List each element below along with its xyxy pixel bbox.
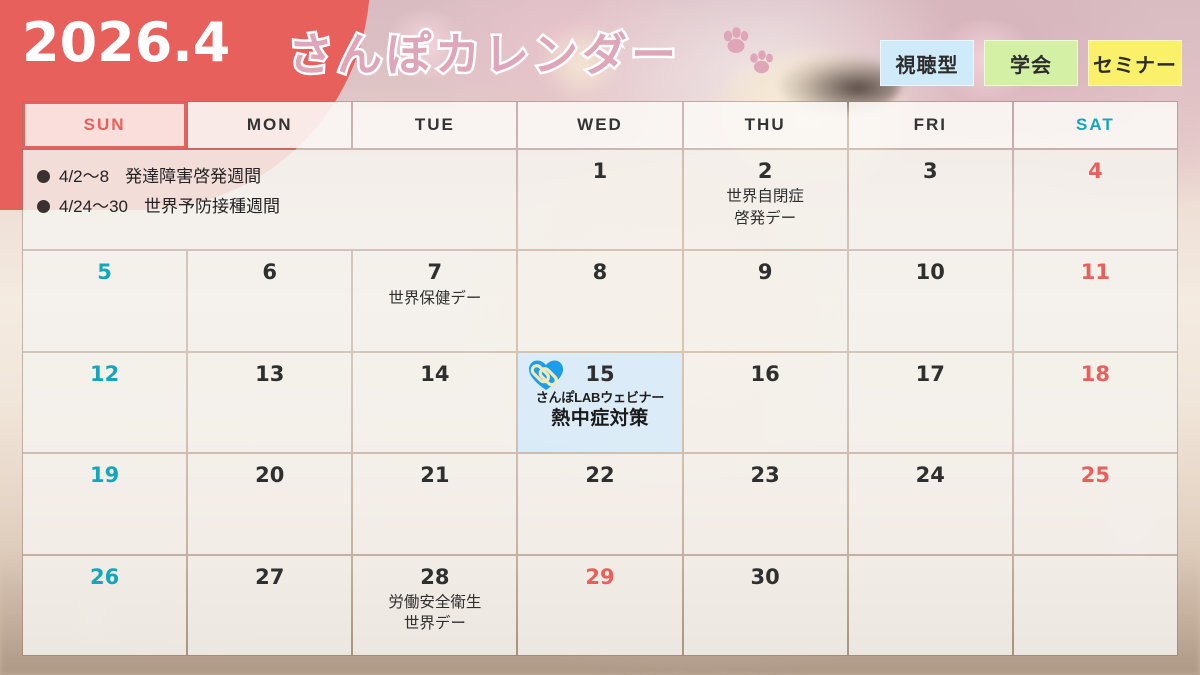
- calendar-cell-9[interactable]: 9: [684, 251, 847, 350]
- note-range: 4/24〜30: [59, 192, 128, 222]
- calendar-cell-12[interactable]: 12: [23, 353, 186, 452]
- day-number: 5: [97, 259, 112, 285]
- calendar-cell-4[interactable]: 4: [1014, 150, 1177, 249]
- event-title: 熱中症対策: [551, 408, 649, 431]
- day-number: 4: [1088, 158, 1103, 184]
- weekday-label: TUE: [415, 115, 455, 135]
- calendar-cell-15[interactable]: 15さんぽLABウェビナー熱中症対策: [518, 353, 681, 452]
- day-number: 23: [751, 462, 780, 488]
- legend-item-shichougata[interactable]: 視聴型: [880, 40, 974, 86]
- day-number: 18: [1081, 361, 1110, 387]
- event-label: 労働安全衛生 世界デー: [384, 592, 485, 635]
- day-number: 8: [593, 259, 608, 285]
- calendar-cell-19[interactable]: 19: [23, 454, 186, 553]
- month-label: 2026.4: [22, 16, 230, 70]
- calendar-cell-empty: [1014, 556, 1177, 655]
- calendar-page: 2026.4 さんぽカレンダー 視聴型 学会 セミナー SUNMONTUEWED…: [0, 0, 1200, 675]
- event-subtitle: さんぽLABウェビナー: [536, 390, 665, 406]
- day-number: 30: [751, 564, 780, 590]
- weekday-label: MON: [247, 115, 293, 135]
- calendar-cell-24[interactable]: 24: [849, 454, 1012, 553]
- monthly-notes: 4/2〜8発達障害啓発週間4/24〜30世界予防接種週間: [23, 150, 516, 249]
- day-number: 20: [255, 462, 284, 488]
- day-number: 25: [1081, 462, 1110, 488]
- calendar-cell-5[interactable]: 5: [23, 251, 186, 350]
- note-line: 4/24〜30世界予防接種週間: [37, 192, 516, 222]
- day-number: 13: [255, 361, 284, 387]
- day-number: 9: [758, 259, 773, 285]
- calendar-cell-21[interactable]: 21: [353, 454, 516, 553]
- page-title: さんぽカレンダー: [288, 18, 680, 83]
- calendar-cell-30[interactable]: 30: [684, 556, 847, 655]
- day-number: 6: [262, 259, 277, 285]
- weekday-header-mon: MON: [188, 102, 351, 148]
- event-label: 世界自閉症 啓発デー: [722, 186, 808, 229]
- day-number: 28: [420, 564, 449, 590]
- weekday-label: THU: [745, 115, 786, 135]
- weekday-label: SUN: [84, 115, 126, 135]
- weekday-header-thu: THU: [684, 102, 847, 148]
- day-number: 22: [585, 462, 614, 488]
- calendar-cell-20[interactable]: 20: [188, 454, 351, 553]
- weekday-header-wed: WED: [518, 102, 681, 148]
- weekday-header-sun: SUN: [23, 102, 186, 148]
- calendar-grid: SUNMONTUEWEDTHUFRISAT4/2〜8発達障害啓発週間4/24〜3…: [22, 101, 1178, 656]
- calendar-cell-8[interactable]: 8: [518, 251, 681, 350]
- legend-label: セミナー: [1093, 49, 1177, 78]
- calendar-cell-13[interactable]: 13: [188, 353, 351, 452]
- day-number: 1: [593, 158, 608, 184]
- weekday-label: FRI: [914, 115, 947, 135]
- day-number: 21: [420, 462, 449, 488]
- calendar-cell-18[interactable]: 18: [1014, 353, 1177, 452]
- weekday-label: WED: [577, 115, 623, 135]
- legend-item-seminar[interactable]: セミナー: [1088, 40, 1182, 86]
- day-number: 17: [916, 361, 945, 387]
- paw-print-icon: [716, 24, 782, 80]
- day-number: 2: [758, 158, 773, 184]
- calendar-cell-25[interactable]: 25: [1014, 454, 1177, 553]
- calendar-cell-2[interactable]: 2世界自閉症 啓発デー: [684, 150, 847, 249]
- day-number: 16: [751, 361, 780, 387]
- day-number: 11: [1081, 259, 1110, 285]
- calendar-cell-1[interactable]: 1: [518, 150, 681, 249]
- day-number: 15: [585, 361, 614, 387]
- calendar-cell-27[interactable]: 27: [188, 556, 351, 655]
- calendar-cell-28[interactable]: 28労働安全衛生 世界デー: [353, 556, 516, 655]
- legend-label: 視聴型: [896, 49, 959, 78]
- calendar-cell-11[interactable]: 11: [1014, 251, 1177, 350]
- day-number: 10: [916, 259, 945, 285]
- note-text: 世界予防接種週間: [144, 192, 280, 222]
- calendar-cell-17[interactable]: 17: [849, 353, 1012, 452]
- sampo-lab-heart-link-logo: [526, 357, 566, 391]
- day-number: 26: [90, 564, 119, 590]
- weekday-header-sat: SAT: [1014, 102, 1177, 148]
- calendar-cell-6[interactable]: 6: [188, 251, 351, 350]
- day-number: 27: [255, 564, 284, 590]
- weekday-label: SAT: [1076, 115, 1115, 135]
- event-label: 世界保健デー: [384, 288, 485, 309]
- day-number: 7: [428, 259, 443, 285]
- calendar-cell-26[interactable]: 26: [23, 556, 186, 655]
- weekday-header-fri: FRI: [849, 102, 1012, 148]
- day-number: 14: [420, 361, 449, 387]
- calendar-cell-23[interactable]: 23: [684, 454, 847, 553]
- bullet-icon: [37, 170, 50, 183]
- calendar-cell-16[interactable]: 16: [684, 353, 847, 452]
- legend-label: 学会: [1010, 49, 1052, 78]
- day-number: 3: [923, 158, 938, 184]
- note-line: 4/2〜8発達障害啓発週間: [37, 162, 516, 192]
- calendar-cell-7[interactable]: 7世界保健デー: [353, 251, 516, 350]
- day-number: 29: [585, 564, 614, 590]
- note-range: 4/2〜8: [59, 162, 109, 192]
- calendar-cell-10[interactable]: 10: [849, 251, 1012, 350]
- calendar-cell-29[interactable]: 29: [518, 556, 681, 655]
- note-text: 発達障害啓発週間: [125, 162, 261, 192]
- bullet-icon: [37, 200, 50, 213]
- day-number: 24: [916, 462, 945, 488]
- calendar-cell-14[interactable]: 14: [353, 353, 516, 452]
- calendar-cell-empty: [849, 556, 1012, 655]
- calendar-cell-22[interactable]: 22: [518, 454, 681, 553]
- day-number: 19: [90, 462, 119, 488]
- calendar-cell-3[interactable]: 3: [849, 150, 1012, 249]
- legend: 視聴型 学会 セミナー: [880, 40, 1182, 86]
- legend-item-gakkai[interactable]: 学会: [984, 40, 1078, 86]
- day-number: 12: [90, 361, 119, 387]
- weekday-header-tue: TUE: [353, 102, 516, 148]
